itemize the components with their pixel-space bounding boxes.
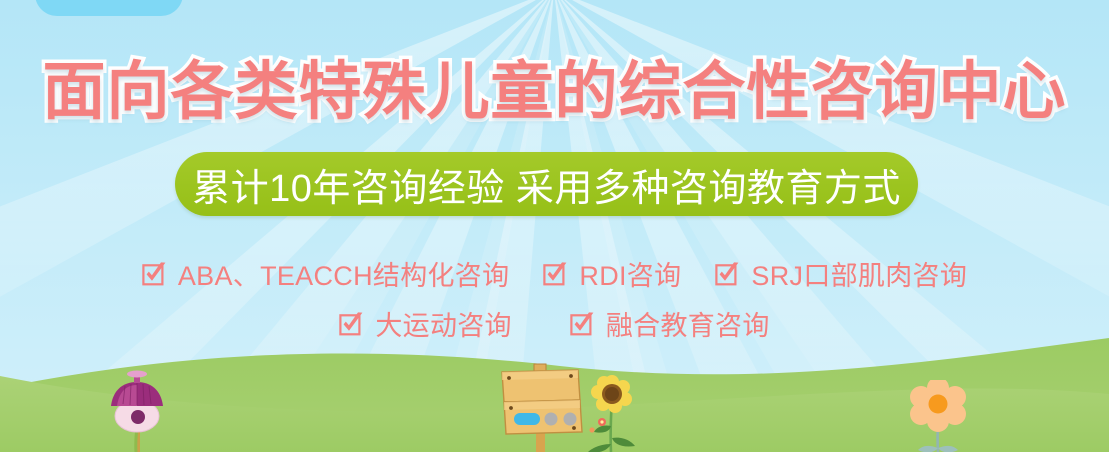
feature-item-gross-motor: 大运动咨询 xyxy=(339,304,512,343)
checkbox-checked-icon xyxy=(715,261,740,286)
promo-banner: 面向各类特殊儿童的综合性咨询中心 累计10年咨询经验 采用多种咨询教育方式 AB… xyxy=(0,0,1109,452)
feature-item-srj: SRJ口部肌肉咨询 xyxy=(715,254,967,293)
feature-list: ABA、TEACCH结构化咨询 RDI咨询 xyxy=(0,252,1109,344)
feature-item-inclusive-education: 融合教育咨询 xyxy=(570,304,770,343)
feature-label: 大运动咨询 xyxy=(375,304,512,343)
feature-row: ABA、TEACCH结构化咨询 RDI咨询 xyxy=(0,252,1109,294)
feature-label: 融合教育咨询 xyxy=(606,304,770,343)
birdhouse-decoration xyxy=(95,370,181,452)
feature-label: RDI咨询 xyxy=(579,254,681,293)
subtitle-text: 累计10年咨询经验 采用多种咨询教育方式 xyxy=(192,157,901,212)
flower-decoration xyxy=(900,380,976,452)
feature-row: 大运动咨询 融合教育咨询 xyxy=(0,302,1109,344)
carousel-dot-inactive[interactable] xyxy=(564,413,577,426)
carousel-dot-active[interactable] xyxy=(514,413,540,425)
checkbox-checked-icon xyxy=(142,261,167,286)
banner-title: 面向各类特殊儿童的综合性咨询中心 xyxy=(0,58,1109,127)
feature-item-rdi: RDI咨询 xyxy=(543,254,681,293)
cloud-chip-decoration xyxy=(35,0,183,16)
feature-label: ABA、TEACCH结构化咨询 xyxy=(178,254,510,293)
sunflower-decoration xyxy=(578,374,644,452)
feature-label: SRJ口部肌肉咨询 xyxy=(751,254,967,293)
signpost-decoration xyxy=(492,362,592,452)
checkbox-checked-icon xyxy=(570,311,595,336)
checkbox-checked-icon xyxy=(543,261,568,286)
checkbox-checked-icon xyxy=(339,311,364,336)
carousel-dot-inactive[interactable] xyxy=(545,413,558,426)
subtitle-pill: 累计10年咨询经验 采用多种咨询教育方式 xyxy=(175,152,918,216)
feature-item-aba-teacch: ABA、TEACCH结构化咨询 xyxy=(142,254,510,293)
